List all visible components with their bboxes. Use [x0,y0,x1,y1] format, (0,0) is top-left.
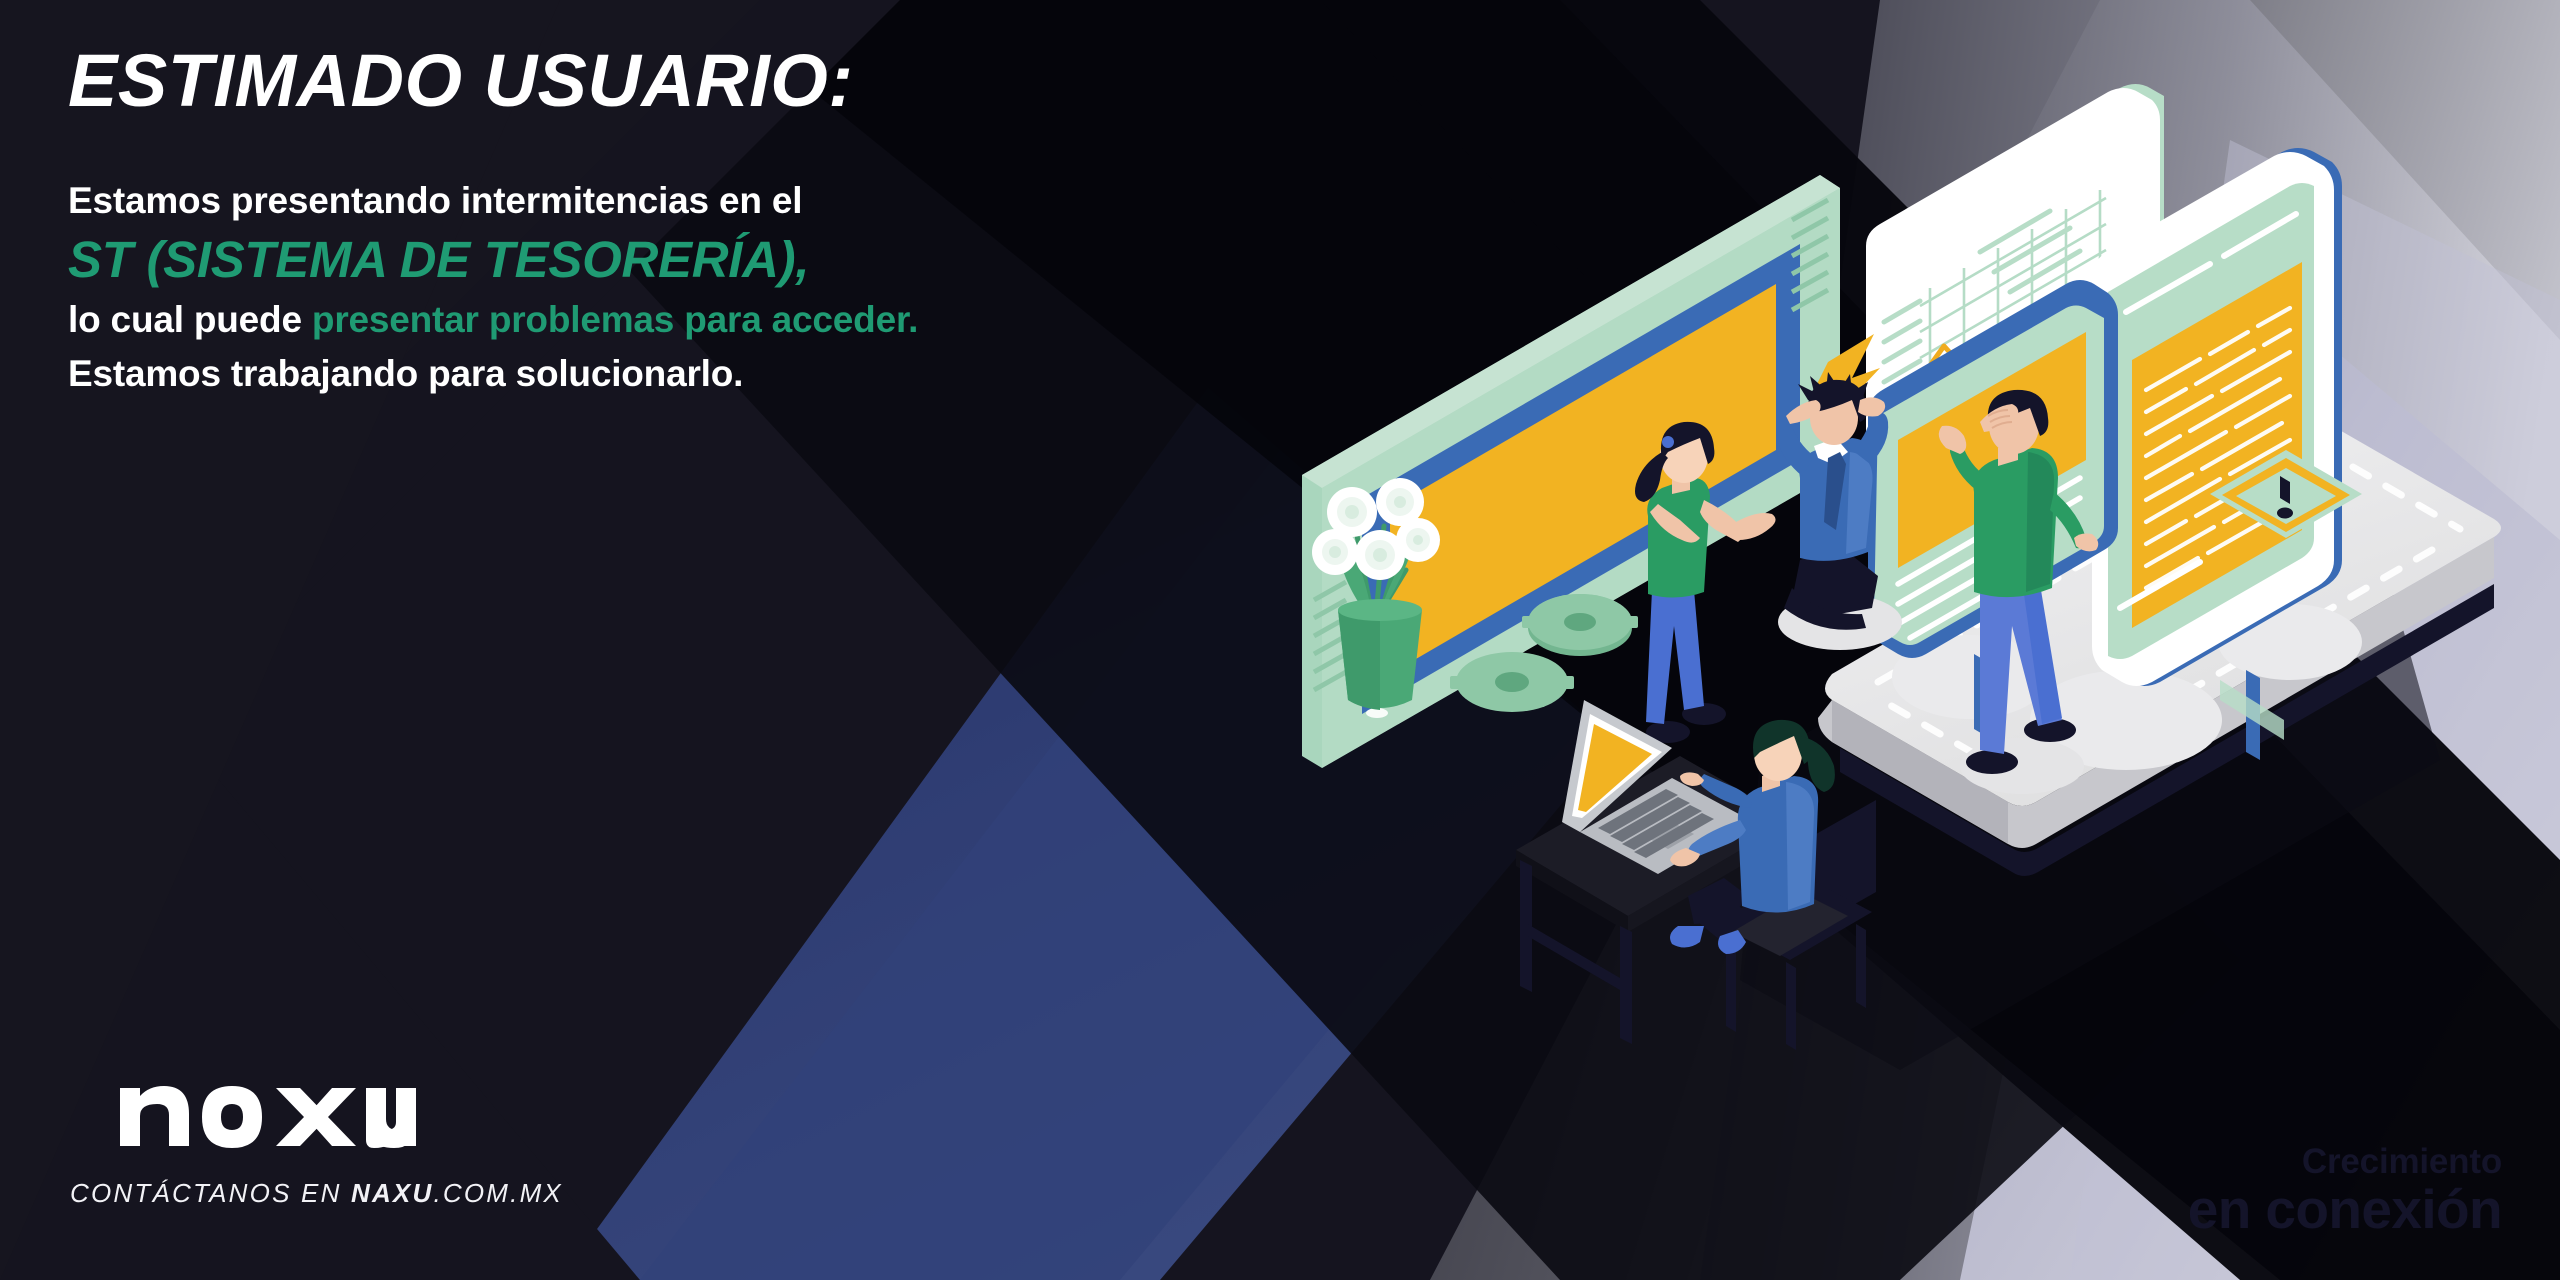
contact-line: CONTÁCTANOS EN NAXU.COM.MX [70,1178,563,1209]
tagline-block: Crecimiento en conexión [2188,1144,2502,1238]
office-illustration [1280,60,2560,1200]
copy-block: ESTIMADO USUARIO: Estamos presentando in… [68,44,1248,398]
body-copy: Estamos presentando intermitencias en el… [68,176,1248,398]
body-line-3-highlight: presentar problemas para acceder. [312,299,918,340]
contact-brand: NAXU [351,1178,433,1208]
naxu-wordmark-logo [116,1062,416,1148]
body-line-3-prefix: lo cual puede [68,299,312,340]
tagline-line-2: en conexión [2188,1180,2502,1238]
tagline-line-1: Crecimiento [2188,1144,2502,1179]
body-line-3: lo cual puede presentar problemas para a… [68,295,1248,344]
contact-domain: .COM.MX [433,1178,563,1208]
page-title: ESTIMADO USUARIO: [68,44,1248,118]
body-line-1: Estamos presentando intermitencias en el [68,176,1248,225]
illustration-svg [1280,60,2560,1200]
contact-prefix: CONTÁCTANOS EN [70,1178,351,1208]
body-line-2-system-name: ST (SISTEMA DE TESORERÍA), [68,229,1248,291]
poster-canvas: ESTIMADO USUARIO: Estamos presentando in… [0,0,2560,1280]
brand-logo-block: CONTÁCTANOS EN NAXU.COM.MX [116,1062,563,1209]
body-line-4: Estamos trabajando para solucionarlo. [68,349,1248,398]
